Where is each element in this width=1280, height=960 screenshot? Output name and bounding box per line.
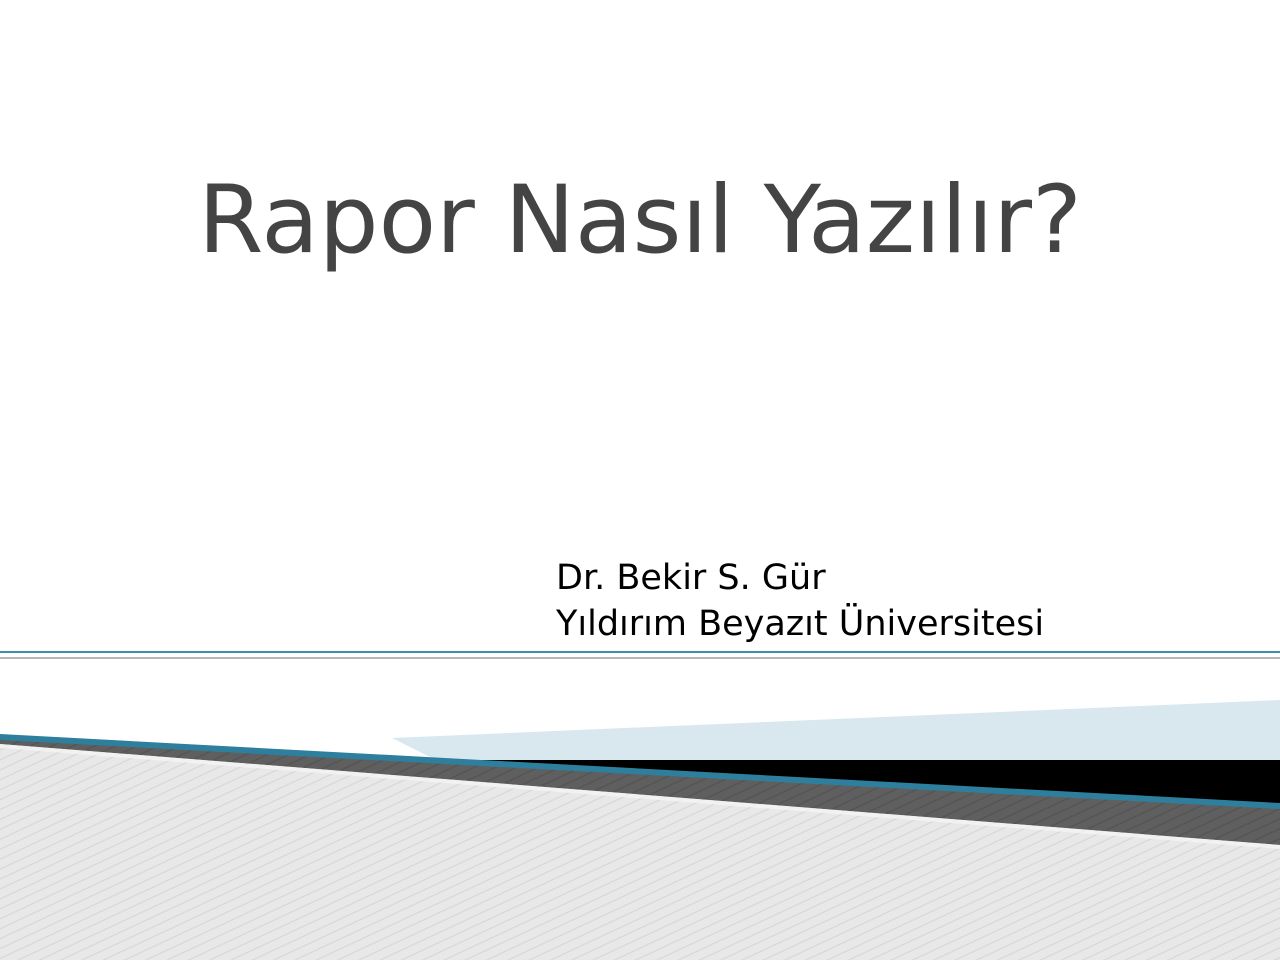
presentation-slide: Rapor Nasıl Yazılır? Dr. Bekir S. Gür Yı… <box>0 0 1280 960</box>
slide-subtitle: Dr. Bekir S. Gür Yıldırım Beyazıt Üniver… <box>556 556 1256 647</box>
footer-decoration-graphic <box>0 660 1280 960</box>
divider-line-teal <box>0 651 1280 653</box>
footer-decoration-svg <box>0 660 1280 960</box>
slide-title-text: Rapor Nasıl Yazılır? <box>0 168 1280 273</box>
subtitle-line-author: Dr. Bekir S. Gür <box>556 556 1256 602</box>
subtitle-line-institution: Yıldırım Beyazıt Üniversitesi <box>556 602 1256 648</box>
light-blue-wedge <box>392 700 1280 760</box>
divider-line-gray <box>0 657 1280 659</box>
slide-title: Rapor Nasıl Yazılır? <box>0 168 1280 273</box>
